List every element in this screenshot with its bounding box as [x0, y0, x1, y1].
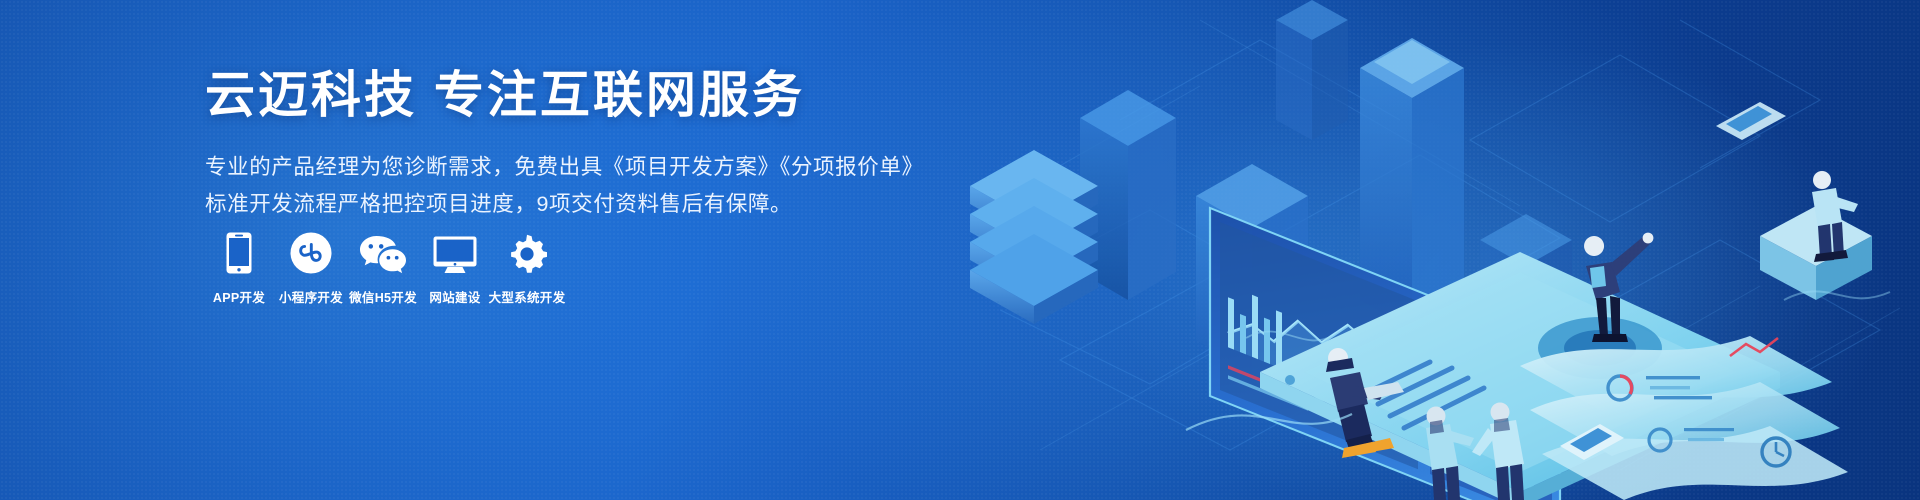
city-towers	[1080, 0, 1572, 380]
connector-lines	[1186, 291, 1890, 430]
gear-icon	[507, 228, 547, 274]
service-item-website[interactable]: 网站建设	[419, 228, 491, 306]
service-label: 小程序开发	[279, 287, 343, 306]
mini-program-icon	[290, 228, 332, 274]
server-stack	[970, 150, 1098, 324]
service-label: 微信H5开发	[349, 287, 417, 306]
page-title: 云迈科技 专注互联网服务	[205, 68, 925, 123]
person-on-step	[1716, 102, 1872, 300]
tablet-platform	[1260, 252, 1780, 500]
service-item-app[interactable]: APP开发	[203, 228, 275, 306]
dashboard-screen	[1210, 208, 1560, 500]
data-sheet-ribbon	[1520, 336, 1848, 500]
service-item-wechat-h5[interactable]: 微信H5开发	[347, 228, 419, 306]
hero-banner: 云迈科技 专注互联网服务 专业的产品经理为您诊断需求，免费出具《项目开发方案》《…	[0, 0, 1920, 500]
mobile-phone-icon	[226, 228, 252, 274]
service-item-large-system[interactable]: 大型系统开发	[491, 228, 563, 306]
background-glow	[1114, 40, 1894, 500]
person-standing	[1584, 233, 1653, 342]
wechat-icon	[359, 228, 407, 274]
service-label: APP开发	[213, 287, 265, 306]
person-with-laptop	[1326, 348, 1404, 458]
service-list: APP开发 小程序开发 微信	[203, 228, 563, 306]
service-label: 大型系统开发	[489, 287, 566, 306]
banner-subtitle-line-2: 标准开发流程严格把控项目进度，9项交付资料售后有保障。	[205, 186, 925, 223]
banner-subtitle-line-1: 专业的产品经理为您诊断需求，免费出具《项目开发方案》《分项报价单》	[205, 149, 925, 186]
service-item-mini-program[interactable]: 小程序开发	[275, 228, 347, 306]
hero-illustration	[960, 0, 1920, 500]
banner-text-block: 云迈科技 专注互联网服务 专业的产品经理为您诊断需求，免费出具《项目开发方案》《…	[205, 68, 925, 223]
person-pair	[1426, 403, 1524, 500]
service-label: 网站建设	[429, 287, 480, 306]
isometric-grid-lines	[1000, 0, 1920, 500]
monitor-icon	[433, 228, 477, 274]
